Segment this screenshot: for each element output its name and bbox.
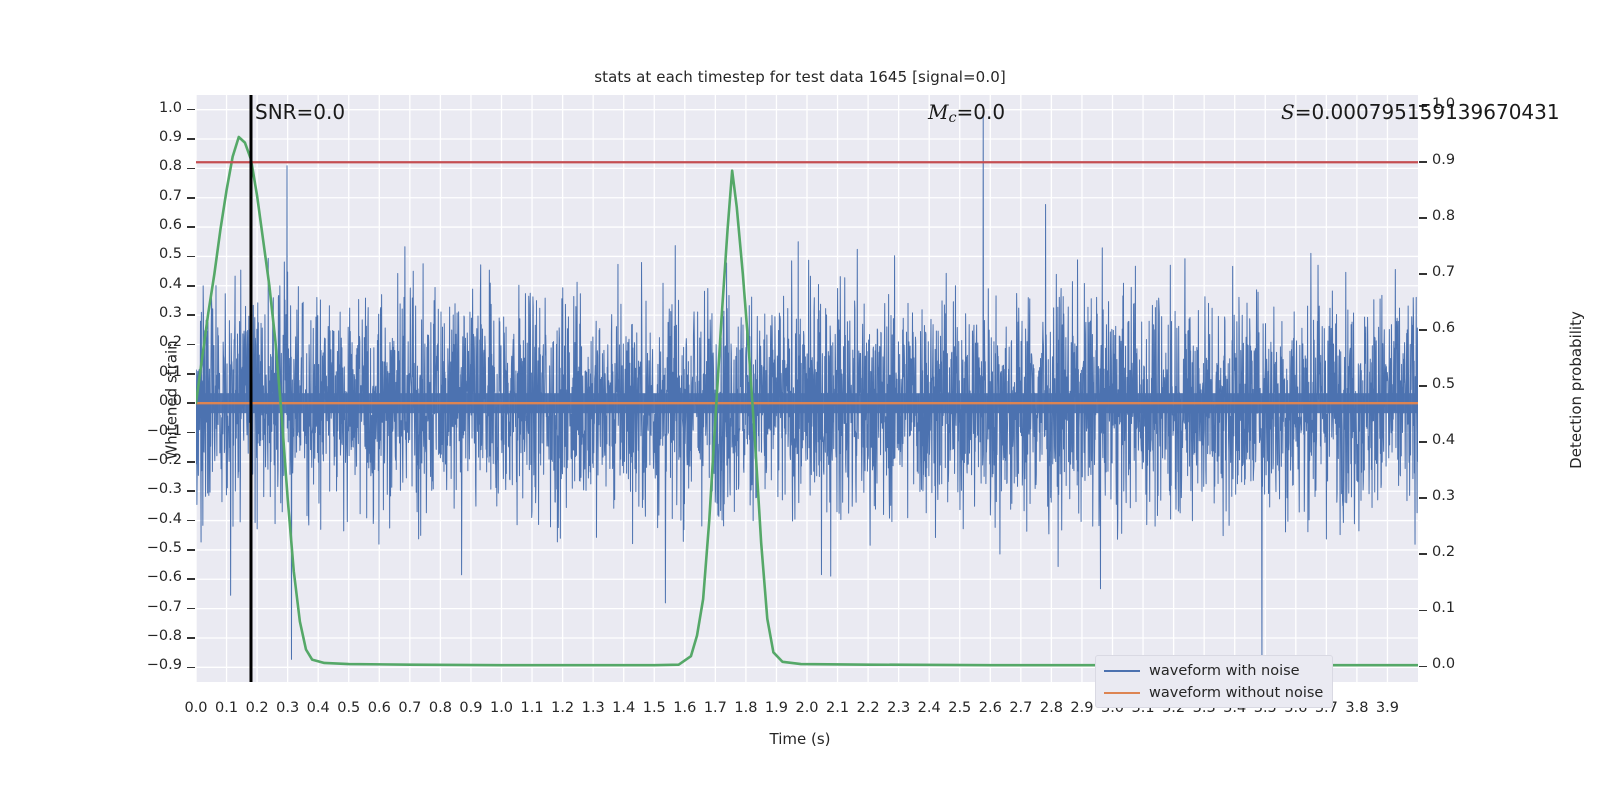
y-tick-label-right: 0.6 [1432,320,1455,336]
legend-item: waveform with noise [1104,661,1323,680]
y-tick-label-left: −0.2 [120,452,182,468]
annotation-mc-value: =0.0 [957,100,1006,124]
y-tick-mark-right [1419,553,1427,555]
y-tick-label-left: 0.4 [120,276,182,292]
y-tick-label-left: 0.7 [120,188,182,204]
legend-swatch-waveform-with-noise [1104,670,1140,672]
y-tick-mark-left [187,490,195,492]
annotation-mc-symbol: M [928,100,948,124]
y-tick-mark-left [187,109,195,111]
annotation-chirp-mass: Mc=0.0 [928,100,1005,126]
y-tick-mark-right [1419,161,1427,163]
y-tick-mark-left [187,432,195,434]
y-tick-mark-left [187,637,195,639]
y-tick-mark-left [187,314,195,316]
y-tick-label-left: 0.6 [120,217,182,233]
y-tick-mark-left [187,197,195,199]
annotation-snr: SNR=0.0 [255,100,345,124]
y-tick-label-right: 0.0 [1432,656,1455,672]
y-tick-mark-left [187,608,195,610]
legend-label: waveform with noise [1149,663,1300,679]
y-tick-label-left: −0.9 [120,657,182,673]
y-tick-mark-right [1419,217,1427,219]
y-tick-mark-right [1419,385,1427,387]
y-tick-label-left: 0.0 [120,393,182,409]
y-tick-label-left: −0.3 [120,481,182,497]
y-tick-mark-left [187,549,195,551]
y-tick-label-left: −0.8 [120,628,182,644]
y-tick-label-right: 0.3 [1432,488,1455,504]
y-tick-label-left: −0.6 [120,569,182,585]
matplotlib-figure: stats at each timestep for test data 164… [0,0,1600,800]
y-tick-label-right: 0.7 [1432,264,1455,280]
y-axis-label-right: Detection probability [1567,311,1585,469]
overlay-layer [196,95,1418,682]
y-tick-label-left: −0.7 [120,599,182,615]
y-tick-mark-right [1419,666,1427,668]
x-axis-label: Time (s) [0,730,1600,748]
y-tick-label-left: 0.9 [120,129,182,145]
y-tick-label-right: 0.8 [1432,208,1455,224]
y-tick-label-right: 0.9 [1432,152,1455,168]
annotation-s-value: =0.000795159139670431 [1295,100,1560,124]
y-tick-label-left: 0.2 [120,334,182,350]
y-tick-label-right: 0.2 [1432,544,1455,560]
y-tick-mark-right [1419,329,1427,331]
y-tick-mark-left [187,520,195,522]
y-tick-mark-left [187,285,195,287]
y-tick-label-left: 0.3 [120,305,182,321]
annotation-mc-subscript: c [948,110,956,126]
y-tick-mark-right [1419,441,1427,443]
y-tick-label-left: 0.5 [120,246,182,262]
y-tick-mark-left [187,226,195,228]
y-tick-mark-right [1419,497,1427,499]
y-tick-mark-left [187,373,195,375]
series-detection-probability [196,137,1418,665]
y-tick-label-right: 0.1 [1432,600,1455,616]
y-tick-mark-left [187,256,195,258]
legend: waveform with noise waveform without noi… [1095,655,1333,708]
legend-swatch-waveform-without-noise [1104,692,1140,694]
y-tick-mark-left [187,667,195,669]
annotation-score: S=0.000795159139670431 [1281,100,1560,124]
page-title: stats at each timestep for test data 164… [0,68,1600,86]
y-tick-label-left: −0.4 [120,511,182,527]
plot-area [196,95,1418,682]
y-tick-label-right: 0.4 [1432,432,1455,448]
y-tick-label-left: −0.1 [120,423,182,439]
y-tick-mark-right [1419,273,1427,275]
y-tick-mark-left [187,138,195,140]
y-tick-mark-left [187,578,195,580]
y-tick-mark-left [187,168,195,170]
x-tick-label: 3.9 [1367,700,1407,716]
annotation-s-symbol: S [1281,100,1295,124]
y-tick-label-left: 1.0 [120,100,182,116]
y-tick-mark-left [187,402,195,404]
y-tick-mark-left [187,461,195,463]
legend-label: waveform without noise [1149,685,1323,701]
y-tick-label-left: 0.8 [120,158,182,174]
y-tick-mark-left [187,344,195,346]
y-tick-mark-right [1419,610,1427,612]
y-tick-label-right: 0.5 [1432,376,1455,392]
y-tick-label-left: 0.1 [120,364,182,380]
y-tick-label-left: −0.5 [120,540,182,556]
legend-item: waveform without noise [1104,683,1323,702]
